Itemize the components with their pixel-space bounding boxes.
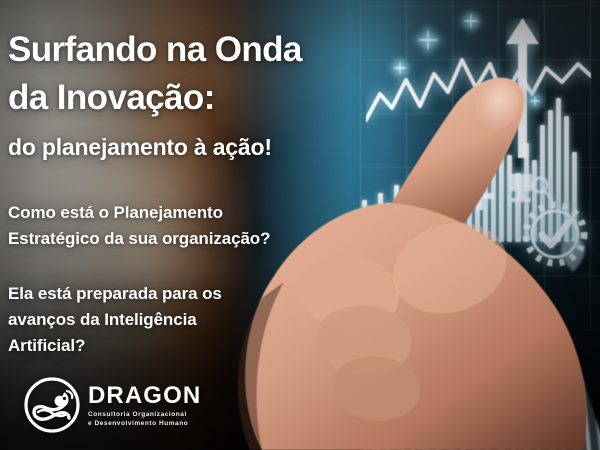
question-paragraph-1: Como está o Planejamento Estratégico da … bbox=[8, 200, 270, 252]
paragraph-1-line-2: Estratégico da sua organização? bbox=[8, 226, 270, 252]
brand-wordmark: DRAGON bbox=[88, 385, 201, 407]
brand-tagline-line-2: e Desenvolvimento Humano bbox=[88, 419, 201, 428]
marketing-poster: Surfando na Onda da Inovação: do planeja… bbox=[0, 0, 600, 450]
brand-tagline: Consultoria Organizacional e Desenvolvim… bbox=[88, 410, 201, 428]
paragraph-2-line-2: avanços da Inteligência bbox=[8, 307, 222, 333]
headline: Surfando na Onda da Inovação: bbox=[8, 26, 302, 122]
paragraph-2-line-1: Ela está preparada para os bbox=[8, 281, 222, 307]
brand-tagline-line-1: Consultoria Organizacional bbox=[88, 410, 201, 419]
headline-line-1: Surfando na Onda bbox=[8, 26, 302, 74]
dragon-circle-emblem-icon bbox=[24, 377, 80, 433]
paragraph-2-line-3: Artificial? bbox=[8, 333, 222, 359]
headline-line-2: da Inovação: bbox=[8, 74, 302, 122]
brand-logo[interactable]: DRAGON Consultoria Organizacional e Dese… bbox=[24, 377, 201, 433]
question-paragraph-2: Ela está preparada para os avanços da In… bbox=[8, 281, 222, 359]
logo-text-block: DRAGON Consultoria Organizacional e Dese… bbox=[88, 383, 201, 428]
paragraph-1-line-1: Como está o Planejamento bbox=[8, 200, 270, 226]
subheadline: do planejamento à ação! bbox=[8, 132, 272, 162]
